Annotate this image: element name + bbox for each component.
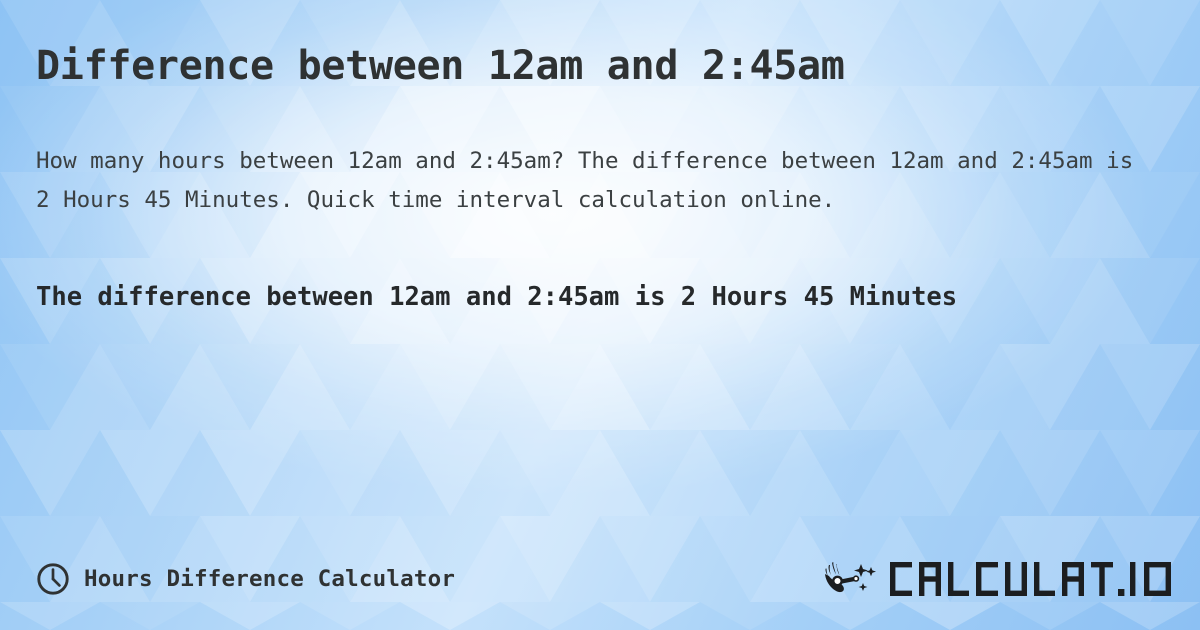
brand-logo-link[interactable]	[823, 559, 1176, 599]
footer-tool-label: Hours Difference Calculator	[84, 566, 455, 592]
page-title: Difference between 12am and 2:45am	[36, 0, 1164, 89]
footer: Hours Difference Calculator	[36, 556, 1176, 602]
brand-wordmark	[890, 562, 1176, 596]
hand-magic-wand-icon	[823, 559, 881, 599]
page-content: Difference between 12am and 2:45am How m…	[0, 0, 1200, 630]
hours-difference-calculator-link[interactable]: Hours Difference Calculator	[36, 562, 455, 596]
intro-paragraph: How many hours between 12am and 2:45am? …	[36, 89, 1141, 220]
result-heading: The difference between 12am and 2:45am i…	[36, 220, 1096, 319]
clock-icon	[36, 562, 70, 596]
